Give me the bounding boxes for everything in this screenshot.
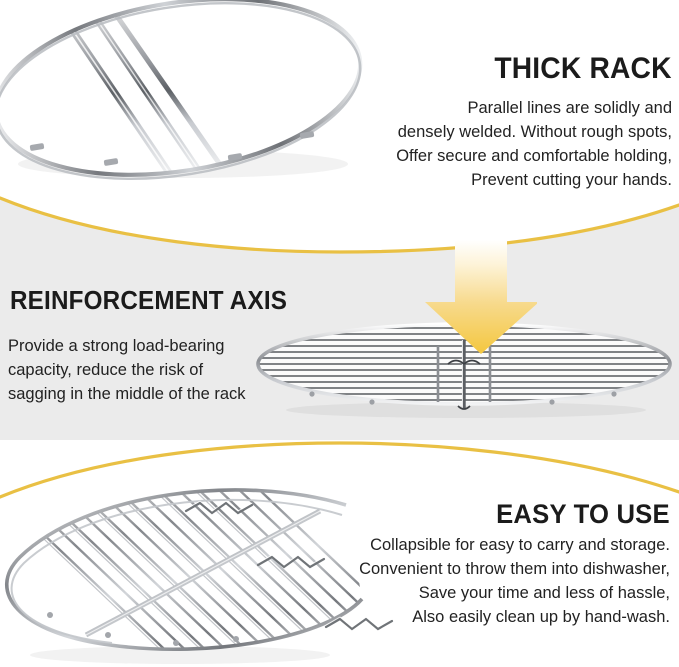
- down-arrow: [425, 240, 537, 358]
- rack-wire-grid: [0, 487, 414, 665]
- reinforcement-axis-line-3: sagging in the middle of the rack: [8, 382, 246, 406]
- thick-rack-body: Parallel lines are solidly and densely w…: [396, 96, 672, 192]
- easy-to-use-line-3: Save your time and less of hassle,: [359, 581, 670, 605]
- reinforcement-axis-body: Provide a strong load-bearing capacity, …: [8, 334, 246, 406]
- easy-to-use-body: Collapsible for easy to carry and storag…: [359, 533, 670, 629]
- easy-to-use-line-2: Convenient to throw them into dishwasher…: [359, 557, 670, 581]
- reinforcement-axis-line-2: capacity, reduce the risk of: [8, 358, 246, 382]
- easy-to-use-line-4: Also easily clean up by hand-wash.: [359, 605, 670, 629]
- product-image-thick-rack: [0, 0, 378, 190]
- product-image-easy-to-use: [0, 487, 414, 665]
- infographic-page: THICK RACK Parallel lines are solidly an…: [0, 0, 679, 667]
- reinforcement-axis-line-1: Provide a strong load-bearing: [8, 334, 246, 358]
- thick-rack-heading: THICK RACK: [495, 54, 672, 84]
- reinforcement-axis-heading: REINFORCEMENT AXIS: [10, 289, 287, 315]
- thick-rack-line-3: Offer secure and comfortable holding,: [396, 144, 672, 168]
- thick-rack-line-1: Parallel lines are solidly and: [396, 96, 672, 120]
- easy-to-use-line-1: Collapsible for easy to carry and storag…: [359, 533, 670, 557]
- thick-rack-line-2: densely welded. Without rough spots,: [396, 120, 672, 144]
- easy-to-use-heading: EASY TO USE: [496, 501, 670, 528]
- arrow-shape: [425, 240, 537, 354]
- thick-rack-line-4: Prevent cutting your hands.: [396, 168, 672, 192]
- down-arrow-icon: [425, 240, 537, 358]
